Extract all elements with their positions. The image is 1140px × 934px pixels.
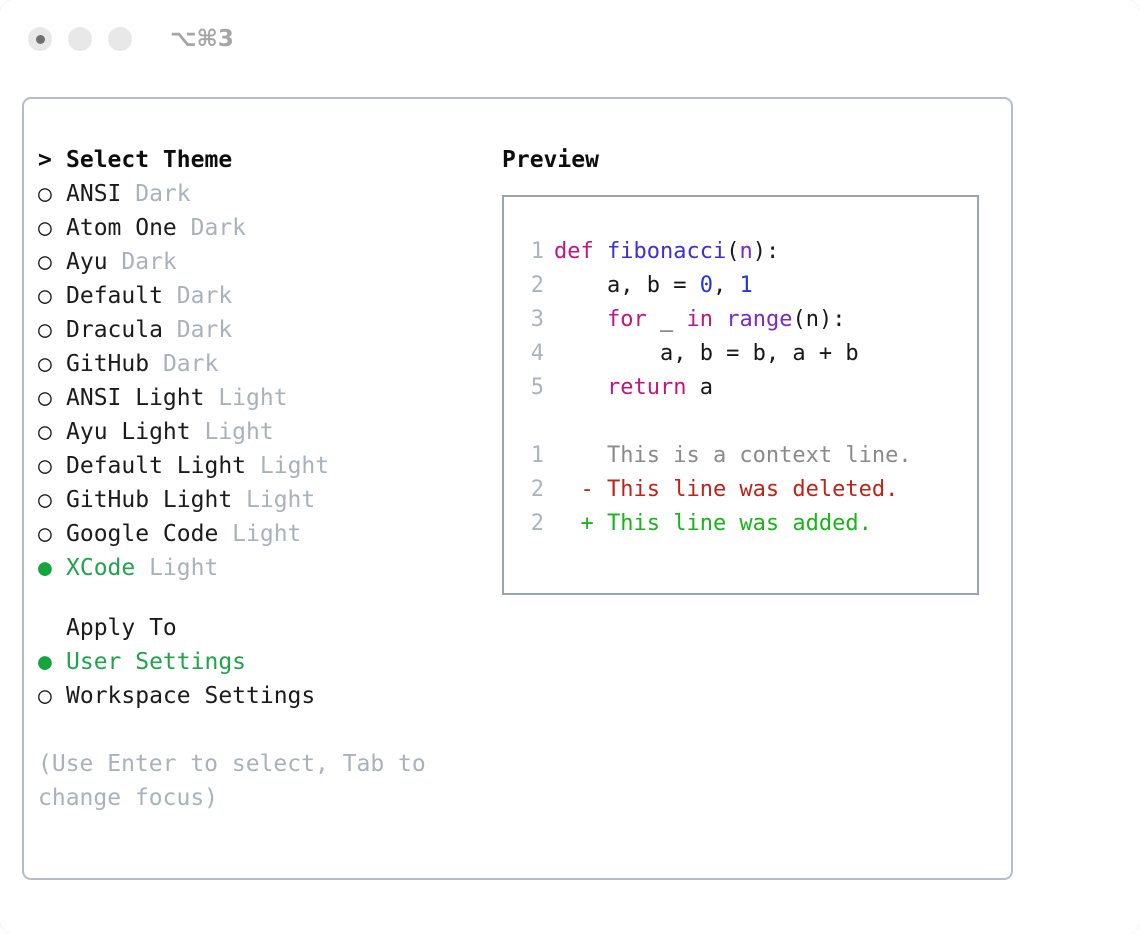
code-token: _ bbox=[647, 307, 687, 332]
code-token bbox=[554, 307, 607, 332]
theme-option-row[interactable]: ●XCode Light bbox=[38, 551, 488, 585]
window-titlebar: ⌥⌘3 bbox=[0, 0, 1140, 78]
diff-line: 1 This is a context line. bbox=[504, 439, 977, 473]
diff-text: This is a context line. bbox=[607, 443, 912, 468]
code-token: a bbox=[686, 375, 713, 400]
apply-to-option-row[interactable]: ○Workspace Settings bbox=[38, 679, 488, 713]
theme-name-label: Default Light bbox=[66, 453, 260, 479]
theme-selector-column: >Select Theme ○ANSI Dark○Atom One Dark○A… bbox=[38, 143, 488, 815]
radio-selected-icon[interactable]: ● bbox=[38, 551, 66, 585]
code-token: range bbox=[726, 307, 792, 332]
theme-variant-label: Dark bbox=[163, 351, 218, 377]
theme-name-label: Google Code bbox=[66, 521, 232, 547]
theme-name-label: ANSI bbox=[66, 181, 135, 207]
theme-name-label: Default bbox=[66, 283, 177, 309]
theme-name-label: XCode bbox=[66, 555, 149, 581]
diff-text: This line was added. bbox=[607, 511, 872, 536]
theme-option-row[interactable]: ○Default Dark bbox=[38, 279, 488, 313]
theme-option-row[interactable]: ○ANSI Dark bbox=[38, 177, 488, 211]
apply-to-options: ●User Settings○Workspace Settings bbox=[38, 645, 488, 713]
code-token: fibonacci bbox=[607, 239, 726, 264]
theme-name-label: GitHub bbox=[66, 351, 163, 377]
theme-option-row[interactable]: ○Atom One Dark bbox=[38, 211, 488, 245]
record-dot-inner bbox=[36, 35, 45, 44]
radio-unselected-icon[interactable]: ○ bbox=[38, 347, 66, 381]
diff-line: 2 + This line was added. bbox=[504, 507, 977, 541]
theme-name-label: Dracula bbox=[66, 317, 177, 343]
code-token: (n): bbox=[792, 307, 845, 332]
radio-unselected-icon[interactable]: ○ bbox=[38, 211, 66, 245]
radio-unselected-icon[interactable]: ○ bbox=[38, 279, 66, 313]
theme-option-row[interactable]: ○Default Light Light bbox=[38, 449, 488, 483]
code-token bbox=[713, 307, 726, 332]
code-token bbox=[554, 375, 607, 400]
keyboard-hint-text: (Use Enter to select, Tab to change focu… bbox=[38, 747, 438, 815]
terminal-window: ⌥⌘3 >Select Theme ○ANSI Dark○Atom One Da… bbox=[0, 0, 1140, 934]
diff-sign bbox=[554, 443, 607, 468]
theme-variant-label: Dark bbox=[177, 283, 232, 309]
code-token: a, b = bbox=[554, 273, 700, 298]
code-token: def bbox=[554, 239, 607, 264]
line-number: 1 bbox=[520, 235, 544, 269]
code-line: 1def fibonacci(n): bbox=[504, 235, 977, 269]
theme-variant-label: Light bbox=[246, 487, 315, 513]
radio-unselected-icon[interactable]: ○ bbox=[38, 517, 66, 551]
code-diff-spacer bbox=[504, 405, 977, 439]
theme-variant-label: Light bbox=[218, 385, 287, 411]
theme-option-row[interactable]: ○Dracula Dark bbox=[38, 313, 488, 347]
theme-option-row[interactable]: ○GitHub Dark bbox=[38, 347, 488, 381]
theme-variant-label: Dark bbox=[121, 249, 176, 275]
diff-sign: + bbox=[554, 511, 607, 536]
main-panel: >Select Theme ○ANSI Dark○Atom One Dark○A… bbox=[22, 97, 1013, 880]
code-token: return bbox=[607, 375, 686, 400]
code-preview-box: 1def fibonacci(n):2 a, b = 0, 13 for _ i… bbox=[502, 195, 979, 595]
apply-to-option-label: User Settings bbox=[66, 649, 246, 675]
line-number: 2 bbox=[520, 269, 544, 303]
code-line: 3 for _ in range(n): bbox=[504, 303, 977, 337]
select-theme-header: >Select Theme bbox=[38, 143, 488, 177]
diff-sign: - bbox=[554, 477, 607, 502]
theme-name-label: Atom One bbox=[66, 215, 191, 241]
code-line: 4 a, b = b, a + b bbox=[504, 337, 977, 371]
shortcut-label: ⌥⌘3 bbox=[170, 26, 234, 52]
theme-option-row[interactable]: ○Ayu Dark bbox=[38, 245, 488, 279]
theme-name-label: GitHub Light bbox=[66, 487, 246, 513]
theme-option-row[interactable]: ○Google Code Light bbox=[38, 517, 488, 551]
prompt-caret-icon: > bbox=[38, 143, 66, 177]
radio-selected-icon[interactable]: ● bbox=[38, 645, 66, 679]
theme-name-label: Ayu bbox=[66, 249, 121, 275]
apply-to-option-label: Workspace Settings bbox=[66, 683, 315, 709]
line-number: 3 bbox=[520, 303, 544, 337]
code-token: ): bbox=[753, 239, 780, 264]
dot-3-icon[interactable] bbox=[108, 27, 132, 51]
radio-unselected-icon[interactable]: ○ bbox=[38, 177, 66, 211]
preview-title: Preview bbox=[502, 143, 1002, 177]
code-token: ( bbox=[726, 239, 739, 264]
line-number: 2 bbox=[520, 473, 544, 507]
radio-unselected-icon[interactable]: ○ bbox=[38, 313, 66, 347]
theme-variant-label: Dark bbox=[135, 181, 190, 207]
diff-sample: 1 This is a context line.2 - This line w… bbox=[504, 439, 977, 541]
code-line: 2 a, b = 0, 1 bbox=[504, 269, 977, 303]
radio-unselected-icon[interactable]: ○ bbox=[38, 415, 66, 449]
apply-to-title: Apply To bbox=[38, 611, 488, 645]
code-token: 1 bbox=[739, 273, 752, 298]
radio-unselected-icon[interactable]: ○ bbox=[38, 245, 66, 279]
radio-unselected-icon[interactable]: ○ bbox=[38, 483, 66, 517]
diff-line: 2 - This line was deleted. bbox=[504, 473, 977, 507]
theme-variant-label: Dark bbox=[177, 317, 232, 343]
theme-option-row[interactable]: ○ANSI Light Light bbox=[38, 381, 488, 415]
code-token: a, b = b, a + b bbox=[554, 341, 859, 366]
code-line: 5 return a bbox=[504, 371, 977, 405]
dot-2-icon[interactable] bbox=[68, 27, 92, 51]
theme-option-row[interactable]: ○GitHub Light Light bbox=[38, 483, 488, 517]
theme-variant-label: Light bbox=[260, 453, 329, 479]
radio-unselected-icon[interactable]: ○ bbox=[38, 679, 66, 713]
theme-name-label: Ayu Light bbox=[66, 419, 204, 445]
preview-column: Preview 1def fibonacci(n):2 a, b = 0, 13… bbox=[502, 143, 1002, 595]
radio-unselected-icon[interactable]: ○ bbox=[38, 381, 66, 415]
radio-unselected-icon[interactable]: ○ bbox=[38, 449, 66, 483]
theme-variant-label: Dark bbox=[191, 215, 246, 241]
theme-list: ○ANSI Dark○Atom One Dark○Ayu Dark○Defaul… bbox=[38, 177, 488, 585]
code-token: in bbox=[686, 307, 713, 332]
line-number: 1 bbox=[520, 439, 544, 473]
theme-variant-label: Light bbox=[204, 419, 273, 445]
code-token: for bbox=[607, 307, 647, 332]
code-token: , bbox=[713, 273, 740, 298]
diff-text: This line was deleted. bbox=[607, 477, 898, 502]
theme-name-label: ANSI Light bbox=[66, 385, 218, 411]
line-number: 4 bbox=[520, 337, 544, 371]
select-theme-label: Select Theme bbox=[66, 147, 232, 173]
apply-to-option-row[interactable]: ●User Settings bbox=[38, 645, 488, 679]
code-token: n bbox=[739, 239, 752, 264]
record-dot-icon[interactable] bbox=[28, 27, 52, 51]
code-token: 0 bbox=[700, 273, 713, 298]
line-number: 2 bbox=[520, 507, 544, 541]
apply-to-section: Apply To ●User Settings○Workspace Settin… bbox=[38, 611, 488, 713]
code-sample: 1def fibonacci(n):2 a, b = 0, 13 for _ i… bbox=[504, 235, 977, 405]
theme-variant-label: Light bbox=[149, 555, 218, 581]
theme-variant-label: Light bbox=[232, 521, 301, 547]
theme-option-row[interactable]: ○Ayu Light Light bbox=[38, 415, 488, 449]
line-number: 5 bbox=[520, 371, 544, 405]
